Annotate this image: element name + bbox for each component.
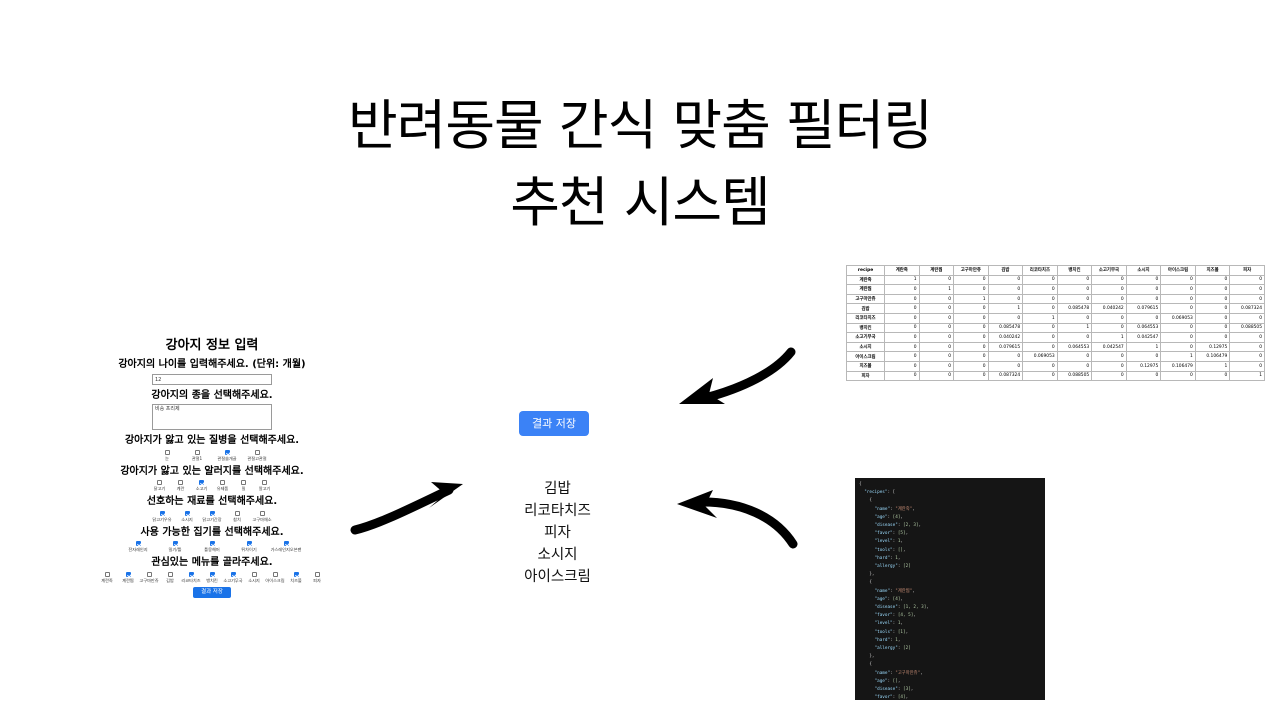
matrix-cell: 0 — [954, 333, 989, 343]
matrix-cell: 0.085478 — [1057, 304, 1092, 314]
checkbox-label: 관절고관절 — [247, 456, 266, 461]
matrix-cell: 0 — [1092, 294, 1127, 304]
matrix-cell: 0 — [1092, 371, 1127, 381]
matrix-cell: 0 — [919, 352, 954, 362]
console-line: "favor": [5], — [855, 530, 1045, 538]
breed-select[interactable]: 비숑 프리제 — [152, 404, 272, 430]
table-row: 피자0000.08732400.08850500001 — [847, 371, 1265, 381]
matrix-cell: 0 — [1023, 323, 1058, 333]
matrix-cell: 0 — [954, 304, 989, 314]
checkbox-icon[interactable] — [220, 480, 225, 485]
table-row: 아이스크림00000.06905300010.1064790 — [847, 352, 1265, 362]
matrix-cell: 0 — [885, 323, 920, 333]
console-line: "name": "계란찜", — [855, 588, 1045, 596]
matrix-cell: 0 — [988, 275, 1023, 285]
checkbox-checked-icon[interactable] — [210, 511, 215, 516]
matrix-cell: 0 — [1126, 313, 1161, 323]
matrix-column-header: 치즈볼 — [1195, 266, 1230, 276]
dog-info-form: 강아지 정보 입력 강아지의 나이를 입력해주세요. (단위: 개월) 12 강… — [62, 338, 362, 638]
matrix-cell: 0 — [885, 285, 920, 295]
allergy-checkbox-group: 닭고기계란소고기유제품밀알고기 — [62, 480, 362, 491]
matrix-cell: 0 — [988, 313, 1023, 323]
console-line: "favor": [4], — [855, 694, 1045, 700]
matrix-cell: 1 — [1023, 313, 1058, 323]
checkbox-label: 밀기/틀 — [169, 547, 182, 552]
matrix-cell: 0 — [954, 342, 989, 352]
matrix-cell: 0 — [1230, 285, 1265, 295]
matrix-cell: 0.064553 — [1126, 323, 1161, 333]
checkbox-icon[interactable] — [165, 450, 170, 455]
checkbox-icon[interactable] — [315, 572, 320, 577]
checkbox-checked-icon[interactable] — [210, 541, 215, 546]
checkbox-label: 소고기무국 — [223, 578, 242, 583]
matrix-cell: 0 — [1230, 333, 1265, 343]
matrix-cell: 1 — [988, 304, 1023, 314]
matrix-cell: 0 — [919, 275, 954, 285]
checkbox-cell[interactable]: 아이스크림 — [265, 572, 286, 583]
form-heading: 강아지 정보 입력 — [62, 338, 362, 354]
checkbox-cell[interactable]: 소고기무국 — [223, 572, 244, 583]
matrix-cell: 0.106479 — [1161, 361, 1196, 371]
checkbox-cell[interactable]: 리코타치즈 — [181, 572, 202, 583]
matrix-cell: 0.042547 — [1126, 333, 1161, 343]
matrix-cell: 0 — [1023, 275, 1058, 285]
matrix-row-header: 치즈볼 — [847, 361, 885, 371]
matrix-cell: 0.064553 — [1057, 342, 1092, 352]
similarity-matrix: recipe계란죽계란찜고구마만쥬김밥리코타치즈뱅치킨소고기무국소시지아이스크림… — [846, 265, 1265, 381]
checkbox-label: 알고기 — [259, 486, 271, 491]
menu-question-label: 관심있는 메뉴를 골라주세요. — [62, 557, 362, 570]
checkbox-checked-icon[interactable] — [294, 572, 299, 577]
checkbox-label: 아이스크림 — [265, 578, 284, 583]
checkbox-cell[interactable]: 틀뭉해머 — [194, 541, 231, 552]
checkbox-cell[interactable]: 튀차이기 — [231, 541, 268, 552]
matrix-cell: 0.040242 — [1092, 304, 1127, 314]
matrix-cell: 0 — [1057, 361, 1092, 371]
checkbox-label: 눈 — [165, 456, 169, 461]
matrix-cell: 0 — [1126, 285, 1161, 295]
checkbox-label: 튀차이기 — [241, 547, 256, 552]
matrix-cell: 1 — [919, 285, 954, 295]
console-line: }, — [855, 653, 1045, 661]
matrix-cell: 0.087324 — [1230, 304, 1265, 314]
matrix-cell: 0 — [1195, 294, 1230, 304]
checkbox-label: 유제품 — [217, 486, 229, 491]
matrix-cell: 0 — [954, 371, 989, 381]
matrix-cell: 0 — [1023, 285, 1058, 295]
console-line: "hard": 1, — [855, 637, 1045, 645]
checkbox-cell[interactable]: 계란죽 — [97, 572, 118, 583]
matrix-row-header: 아이스크림 — [847, 352, 885, 362]
checkbox-label: 틀뭉해머 — [204, 547, 219, 552]
matrix-cell: 0 — [885, 333, 920, 343]
checkbox-cell[interactable]: 뱅치킨 — [202, 572, 223, 583]
matrix-row-header: 리코타치즈 — [847, 313, 885, 323]
checkbox-label: 닭고기우유 — [152, 517, 171, 522]
checkbox-label: 고구마채소 — [252, 517, 271, 522]
menu-checkbox-group: 계란죽계란찜고구마만쥬김밥리코타치즈뱅치킨소고기무국소시지아이스크림치즈볼피자 — [62, 572, 362, 583]
matrix-table: recipe계란죽계란찜고구마만쥬김밥리코타치즈뱅치킨소고기무국소시지아이스크림… — [846, 265, 1265, 381]
matrix-cell: 0 — [954, 352, 989, 362]
matrix-cell: 0 — [1126, 294, 1161, 304]
matrix-cell: 1 — [954, 294, 989, 304]
matrix-cell: 0 — [1195, 304, 1230, 314]
matrix-cell: 0 — [919, 361, 954, 371]
checkbox-cell[interactable]: 계란 — [170, 480, 191, 491]
checkbox-cell[interactable]: 소시지 — [244, 572, 265, 583]
matrix-cell: 0 — [1161, 342, 1196, 352]
checkbox-icon[interactable] — [241, 480, 246, 485]
table-row: 김밥000100.0854780.0402420.079615000.08732… — [847, 304, 1265, 314]
checkbox-cell[interactable]: 고구마만쥬 — [139, 572, 160, 583]
matrix-cell: 0 — [988, 294, 1023, 304]
checkbox-label: 참치 — [233, 517, 241, 522]
matrix-column-header: 소시지 — [1126, 266, 1161, 276]
matrix-cell: 0 — [1057, 275, 1092, 285]
checkbox-cell[interactable]: 피자 — [307, 572, 328, 583]
console-line: "disease": [3], — [855, 686, 1045, 694]
matrix-cell: 0 — [1230, 313, 1265, 323]
matrix-column-header: 리코타치즈 — [1023, 266, 1058, 276]
age-input[interactable]: 12 — [152, 374, 272, 385]
recommendation-item: 피자 — [470, 522, 645, 544]
matrix-cell: 0.079615 — [1126, 304, 1161, 314]
table-row: 소고기무국0000.0402420010.042547000 — [847, 333, 1265, 343]
arrow-left-upper-icon — [663, 342, 803, 422]
matrix-row-header: 고구마만쥬 — [847, 294, 885, 304]
checkbox-icon[interactable] — [273, 572, 278, 577]
checkbox-label: 계란죽 — [101, 578, 113, 583]
matrix-cell: 0 — [1230, 275, 1265, 285]
checkbox-label: 뱅치킨 — [206, 578, 218, 583]
checkbox-icon[interactable] — [252, 572, 257, 577]
checkbox-icon[interactable] — [178, 480, 183, 485]
matrix-body: 계란죽10000000000계란찜01000000000고구마만쥬0010000… — [847, 275, 1265, 381]
checkbox-cell[interactable]: 관절고관절 — [242, 450, 272, 461]
disease-question-label: 강아지가 앓고 있는 질병을 선택해주세요. — [62, 435, 362, 448]
table-row: 소시지0000.07961500.0645530.042547100.12975… — [847, 342, 1265, 352]
checkbox-label: 김밥 — [166, 578, 174, 583]
checkbox-icon[interactable] — [260, 511, 265, 516]
matrix-row-header: 계란찜 — [847, 285, 885, 295]
table-row: 고구마만쥬00100000000 — [847, 294, 1265, 304]
matrix-cell: 0 — [1161, 285, 1196, 295]
arrow-right-icon — [345, 462, 485, 542]
matrix-cell: 0 — [1161, 304, 1196, 314]
console-line: "name": "계란죽", — [855, 506, 1045, 514]
matrix-column-header: 소고기무국 — [1092, 266, 1127, 276]
checkbox-label: 리코타치즈 — [181, 578, 200, 583]
matrix-cell: 0 — [1057, 313, 1092, 323]
json-console[interactable]: { "recipes": [ { "name": "계란죽", "age": [… — [855, 478, 1045, 700]
matrix-cell: 0 — [919, 333, 954, 343]
matrix-corner: recipe — [847, 266, 885, 276]
page-title: 반려동물 간식 맞춤 필터링 추천 시스템 — [0, 88, 1280, 241]
console-line: "level": 1, — [855, 620, 1045, 628]
recommendation-item: 아이스크림 — [470, 566, 645, 588]
title-line-2: 추천 시스템 — [0, 165, 1280, 242]
matrix-cell: 0 — [1057, 352, 1092, 362]
matrix-cell: 0 — [988, 352, 1023, 362]
console-line: }, — [855, 571, 1045, 579]
console-line: "hard": 1, — [855, 555, 1045, 563]
breed-question-label: 강아지의 종을 선택해주세요. — [62, 390, 362, 403]
matrix-cell: 0 — [919, 371, 954, 381]
matrix-cell: 1 — [885, 275, 920, 285]
recommendation-item: 소시지 — [470, 544, 645, 566]
checkbox-icon[interactable] — [168, 572, 173, 577]
matrix-cell: 0.088505 — [1230, 323, 1265, 333]
checkbox-cell[interactable]: 관절1 — [182, 450, 212, 461]
matrix-cell: 0 — [1023, 342, 1058, 352]
checkbox-cell[interactable]: 관절슬개골 — [212, 450, 242, 461]
matrix-cell: 0 — [919, 294, 954, 304]
console-line: "allergy": [2] — [855, 645, 1045, 653]
checkbox-cell[interactable]: 알고기 — [254, 480, 275, 491]
matrix-cell: 0 — [1126, 352, 1161, 362]
matrix-column-header: 뱅치킨 — [1057, 266, 1092, 276]
matrix-cell: 0 — [1230, 294, 1265, 304]
matrix-cell: 0.12975 — [1126, 361, 1161, 371]
matrix-row-header: 계란죽 — [847, 275, 885, 285]
matrix-cell: 0 — [919, 304, 954, 314]
matrix-cell: 1 — [1230, 371, 1265, 381]
checkbox-icon[interactable] — [105, 572, 110, 577]
table-row: 계란찜01000000000 — [847, 285, 1265, 295]
checkbox-cell[interactable]: 밀 — [233, 480, 254, 491]
title-line-1: 반려동물 간식 맞춤 필터링 — [0, 88, 1280, 165]
checkbox-label: 전자레인지 — [128, 547, 147, 552]
recommendation-list: 김밥리코타치즈피자소시지아이스크림 — [470, 478, 645, 588]
matrix-cell: 0 — [1092, 313, 1127, 323]
matrix-cell: 0 — [1057, 285, 1092, 295]
checkbox-cell[interactable]: 밀기/틀 — [157, 541, 194, 552]
console-line: "name": "고구마만쥬", — [855, 670, 1045, 678]
console-line: { — [855, 497, 1045, 505]
console-line: "recipes": [ — [855, 489, 1045, 497]
matrix-cell: 0.079615 — [988, 342, 1023, 352]
matrix-cell: 0 — [988, 361, 1023, 371]
matrix-cell: 0 — [1092, 323, 1127, 333]
checkbox-icon[interactable] — [262, 480, 267, 485]
console-line: "age": [4], — [855, 596, 1045, 604]
matrix-header-row: recipe계란죽계란찜고구마만쥬김밥리코타치즈뱅치킨소고기무국소시지아이스크림… — [847, 266, 1265, 276]
matrix-cell: 1 — [1092, 333, 1127, 343]
matrix-cell: 0 — [1092, 361, 1127, 371]
matrix-cell: 0 — [1023, 361, 1058, 371]
checkbox-label: 소시지 — [181, 517, 193, 522]
console-line: "level": 1, — [855, 538, 1045, 546]
matrix-cell: 0 — [885, 304, 920, 314]
matrix-cell: 0 — [919, 323, 954, 333]
matrix-row-header: 김밥 — [847, 304, 885, 314]
matrix-cell: 0 — [885, 361, 920, 371]
console-line: "allergy": [2] — [855, 563, 1045, 571]
checkbox-label: 소고기 — [196, 486, 208, 491]
matrix-cell: 0 — [1057, 333, 1092, 343]
matrix-row-header: 뱅치킨 — [847, 323, 885, 333]
matrix-cell: 0.085478 — [988, 323, 1023, 333]
checkbox-label: 치즈볼 — [290, 578, 302, 583]
matrix-cell: 0 — [885, 371, 920, 381]
matrix-cell: 0 — [954, 313, 989, 323]
checkbox-cell[interactable]: 유제품 — [212, 480, 233, 491]
recommendation-item: 김밥 — [470, 478, 645, 500]
console-line: "age": [], — [855, 678, 1045, 686]
matrix-cell: 0 — [954, 275, 989, 285]
checkbox-checked-icon[interactable] — [126, 572, 131, 577]
matrix-cell: 0.040242 — [988, 333, 1023, 343]
matrix-cell: 1 — [1057, 323, 1092, 333]
disease-checkbox-group: 눈관절1관절슬개골관절고관절 — [62, 450, 362, 461]
matrix-cell: 0 — [1230, 361, 1265, 371]
checkbox-checked-icon[interactable] — [210, 572, 215, 577]
recommendation-item: 리코타치즈 — [470, 500, 645, 522]
console-line: "favor": [4, 5], — [855, 612, 1045, 620]
matrix-cell: 1 — [1161, 352, 1196, 362]
matrix-cell: 0 — [954, 361, 989, 371]
matrix-cell: 0 — [885, 313, 920, 323]
matrix-cell: 0.069053 — [1023, 352, 1058, 362]
checkbox-checked-icon[interactable] — [136, 541, 141, 546]
matrix-cell: 0 — [1195, 285, 1230, 295]
checkbox-label: 피자 — [313, 578, 321, 583]
checkbox-label: 닭고기 — [154, 486, 166, 491]
checkbox-label: 고구마만쥬 — [139, 578, 158, 583]
checkbox-checked-icon[interactable] — [189, 572, 194, 577]
matrix-cell: 1 — [1195, 361, 1230, 371]
table-row: 뱅치킨0000.0854780100.064553000.088505 — [847, 323, 1265, 333]
console-line: "age": [4], — [855, 514, 1045, 522]
tools-question-label: 사용 가능한 집기를 선택해주세요. — [62, 527, 362, 540]
matrix-cell: 0 — [885, 352, 920, 362]
console-line: "disease": [2, 3], — [855, 522, 1045, 530]
matrix-column-header: 계란찜 — [919, 266, 954, 276]
checkbox-cell[interactable]: 닭고기 — [149, 480, 170, 491]
checkbox-icon[interactable] — [255, 450, 260, 455]
checkbox-cell[interactable]: 참치 — [225, 511, 250, 522]
matrix-row-header: 소시지 — [847, 342, 885, 352]
checkbox-checked-icon[interactable] — [231, 572, 236, 577]
matrix-cell: 0 — [988, 285, 1023, 295]
matrix-column-header: 김밥 — [988, 266, 1023, 276]
matrix-cell: 0 — [1230, 352, 1265, 362]
matrix-cell: 0 — [1195, 313, 1230, 323]
checkbox-cell[interactable]: 닭고기간장 — [200, 511, 225, 522]
console-line: { — [855, 481, 1045, 489]
checkbox-label: 계란 — [177, 486, 185, 491]
allergy-question-label: 강아지가 앓고 있는 알러지를 선택해주세요. — [62, 466, 362, 479]
table-row: 치즈볼00000000.129750.10647910 — [847, 361, 1265, 371]
slide-root: 반려동물 간식 맞춤 필터링 추천 시스템 강아지 정보 입력 강아지의 나이를… — [0, 0, 1280, 720]
checkbox-checked-icon[interactable] — [160, 511, 165, 516]
checkbox-label: 관절1 — [192, 456, 202, 461]
matrix-cell: 0 — [1023, 371, 1058, 381]
matrix-cell: 0 — [1230, 342, 1265, 352]
matrix-cell: 0.042547 — [1092, 342, 1127, 352]
matrix-column-header: 고구마만쥬 — [954, 266, 989, 276]
checkbox-icon[interactable] — [147, 572, 152, 577]
checkbox-label: 밀 — [242, 486, 246, 491]
favor-question-label: 선호하는 재료를 선택해주세요. — [62, 496, 362, 509]
console-line: "tools": [1], — [855, 629, 1045, 637]
matrix-cell: 0 — [1126, 275, 1161, 285]
matrix-row-header: 피자 — [847, 371, 885, 381]
checkbox-label: 닭고기간장 — [202, 517, 221, 522]
checkbox-cell[interactable]: 전자레인지 — [120, 541, 157, 552]
matrix-cell: 0 — [954, 323, 989, 333]
checkbox-icon[interactable] — [195, 450, 200, 455]
checkbox-cell[interactable]: 소시지 — [175, 511, 200, 522]
tools-checkbox-group: 전자레인지밀기/틀틀뭉해머튀차이기가스레인지오븐팬 — [62, 541, 362, 552]
console-line: { — [855, 579, 1045, 587]
checkbox-label: 가스레인지오븐팬 — [271, 547, 302, 552]
checkbox-label: 계란찜 — [122, 578, 134, 583]
checkbox-checked-icon[interactable] — [225, 450, 230, 455]
matrix-cell: 0 — [1195, 371, 1230, 381]
matrix-cell: 0 — [885, 294, 920, 304]
matrix-cell: 0 — [1161, 333, 1196, 343]
form-submit-button[interactable]: 결과 저장 — [193, 587, 231, 599]
matrix-cell: 0 — [1161, 323, 1196, 333]
console-line: "tools": [], — [855, 547, 1045, 555]
age-question-label: 강아지의 나이를 입력해주세요. (단위: 개월) — [62, 359, 362, 372]
matrix-cell: 0 — [1126, 371, 1161, 381]
matrix-cell: 0 — [1092, 352, 1127, 362]
matrix-cell: 0 — [1195, 333, 1230, 343]
checkbox-label: 소시지 — [248, 578, 260, 583]
checkbox-checked-icon[interactable] — [185, 511, 190, 516]
matrix-cell: 0.069053 — [1161, 313, 1196, 323]
matrix-column-header: 피자 — [1230, 266, 1265, 276]
matrix-cell: 0 — [919, 342, 954, 352]
checkbox-cell[interactable]: 치즈볼 — [286, 572, 307, 583]
checkbox-icon[interactable] — [157, 480, 162, 485]
checkbox-cell[interactable]: 고구마채소 — [250, 511, 275, 522]
matrix-cell: 0 — [954, 285, 989, 295]
console-line: { — [855, 661, 1045, 669]
checkbox-icon[interactable] — [235, 511, 240, 516]
checkbox-checked-icon[interactable] — [284, 541, 289, 546]
matrix-cell: 0 — [1195, 275, 1230, 285]
matrix-cell: 0 — [885, 342, 920, 352]
console-line: "disease": [1, 2, 3], — [855, 604, 1045, 612]
matrix-cell: 0.087324 — [988, 371, 1023, 381]
matrix-row-header: 소고기무국 — [847, 333, 885, 343]
checkbox-cell[interactable]: 계란찜 — [118, 572, 139, 583]
matrix-cell: 0 — [1195, 323, 1230, 333]
matrix-cell: 0.106479 — [1195, 352, 1230, 362]
matrix-cell: 0 — [1023, 304, 1058, 314]
matrix-cell: 1 — [1126, 342, 1161, 352]
matrix-cell: 0 — [1161, 371, 1196, 381]
table-row: 계란죽10000000000 — [847, 275, 1265, 285]
checkbox-cell[interactable]: 소고기 — [191, 480, 212, 491]
checkbox-cell[interactable]: 닭고기우유 — [150, 511, 175, 522]
checkbox-checked-icon[interactable] — [199, 480, 204, 485]
checkbox-cell[interactable]: 눈 — [152, 450, 182, 461]
checkbox-checked-icon[interactable] — [173, 541, 178, 546]
checkbox-checked-icon[interactable] — [247, 541, 252, 546]
save-result-button[interactable]: 결과 저장 — [519, 411, 589, 436]
matrix-cell: 0.088505 — [1057, 371, 1092, 381]
arrow-left-lower-icon — [663, 488, 803, 568]
checkbox-cell[interactable]: 김밥 — [160, 572, 181, 583]
table-row: 리코타치즈000010000.06905300 — [847, 313, 1265, 323]
matrix-cell: 0 — [1057, 294, 1092, 304]
matrix-cell: 0 — [919, 313, 954, 323]
checkbox-cell[interactable]: 가스레인지오븐팬 — [268, 541, 305, 552]
